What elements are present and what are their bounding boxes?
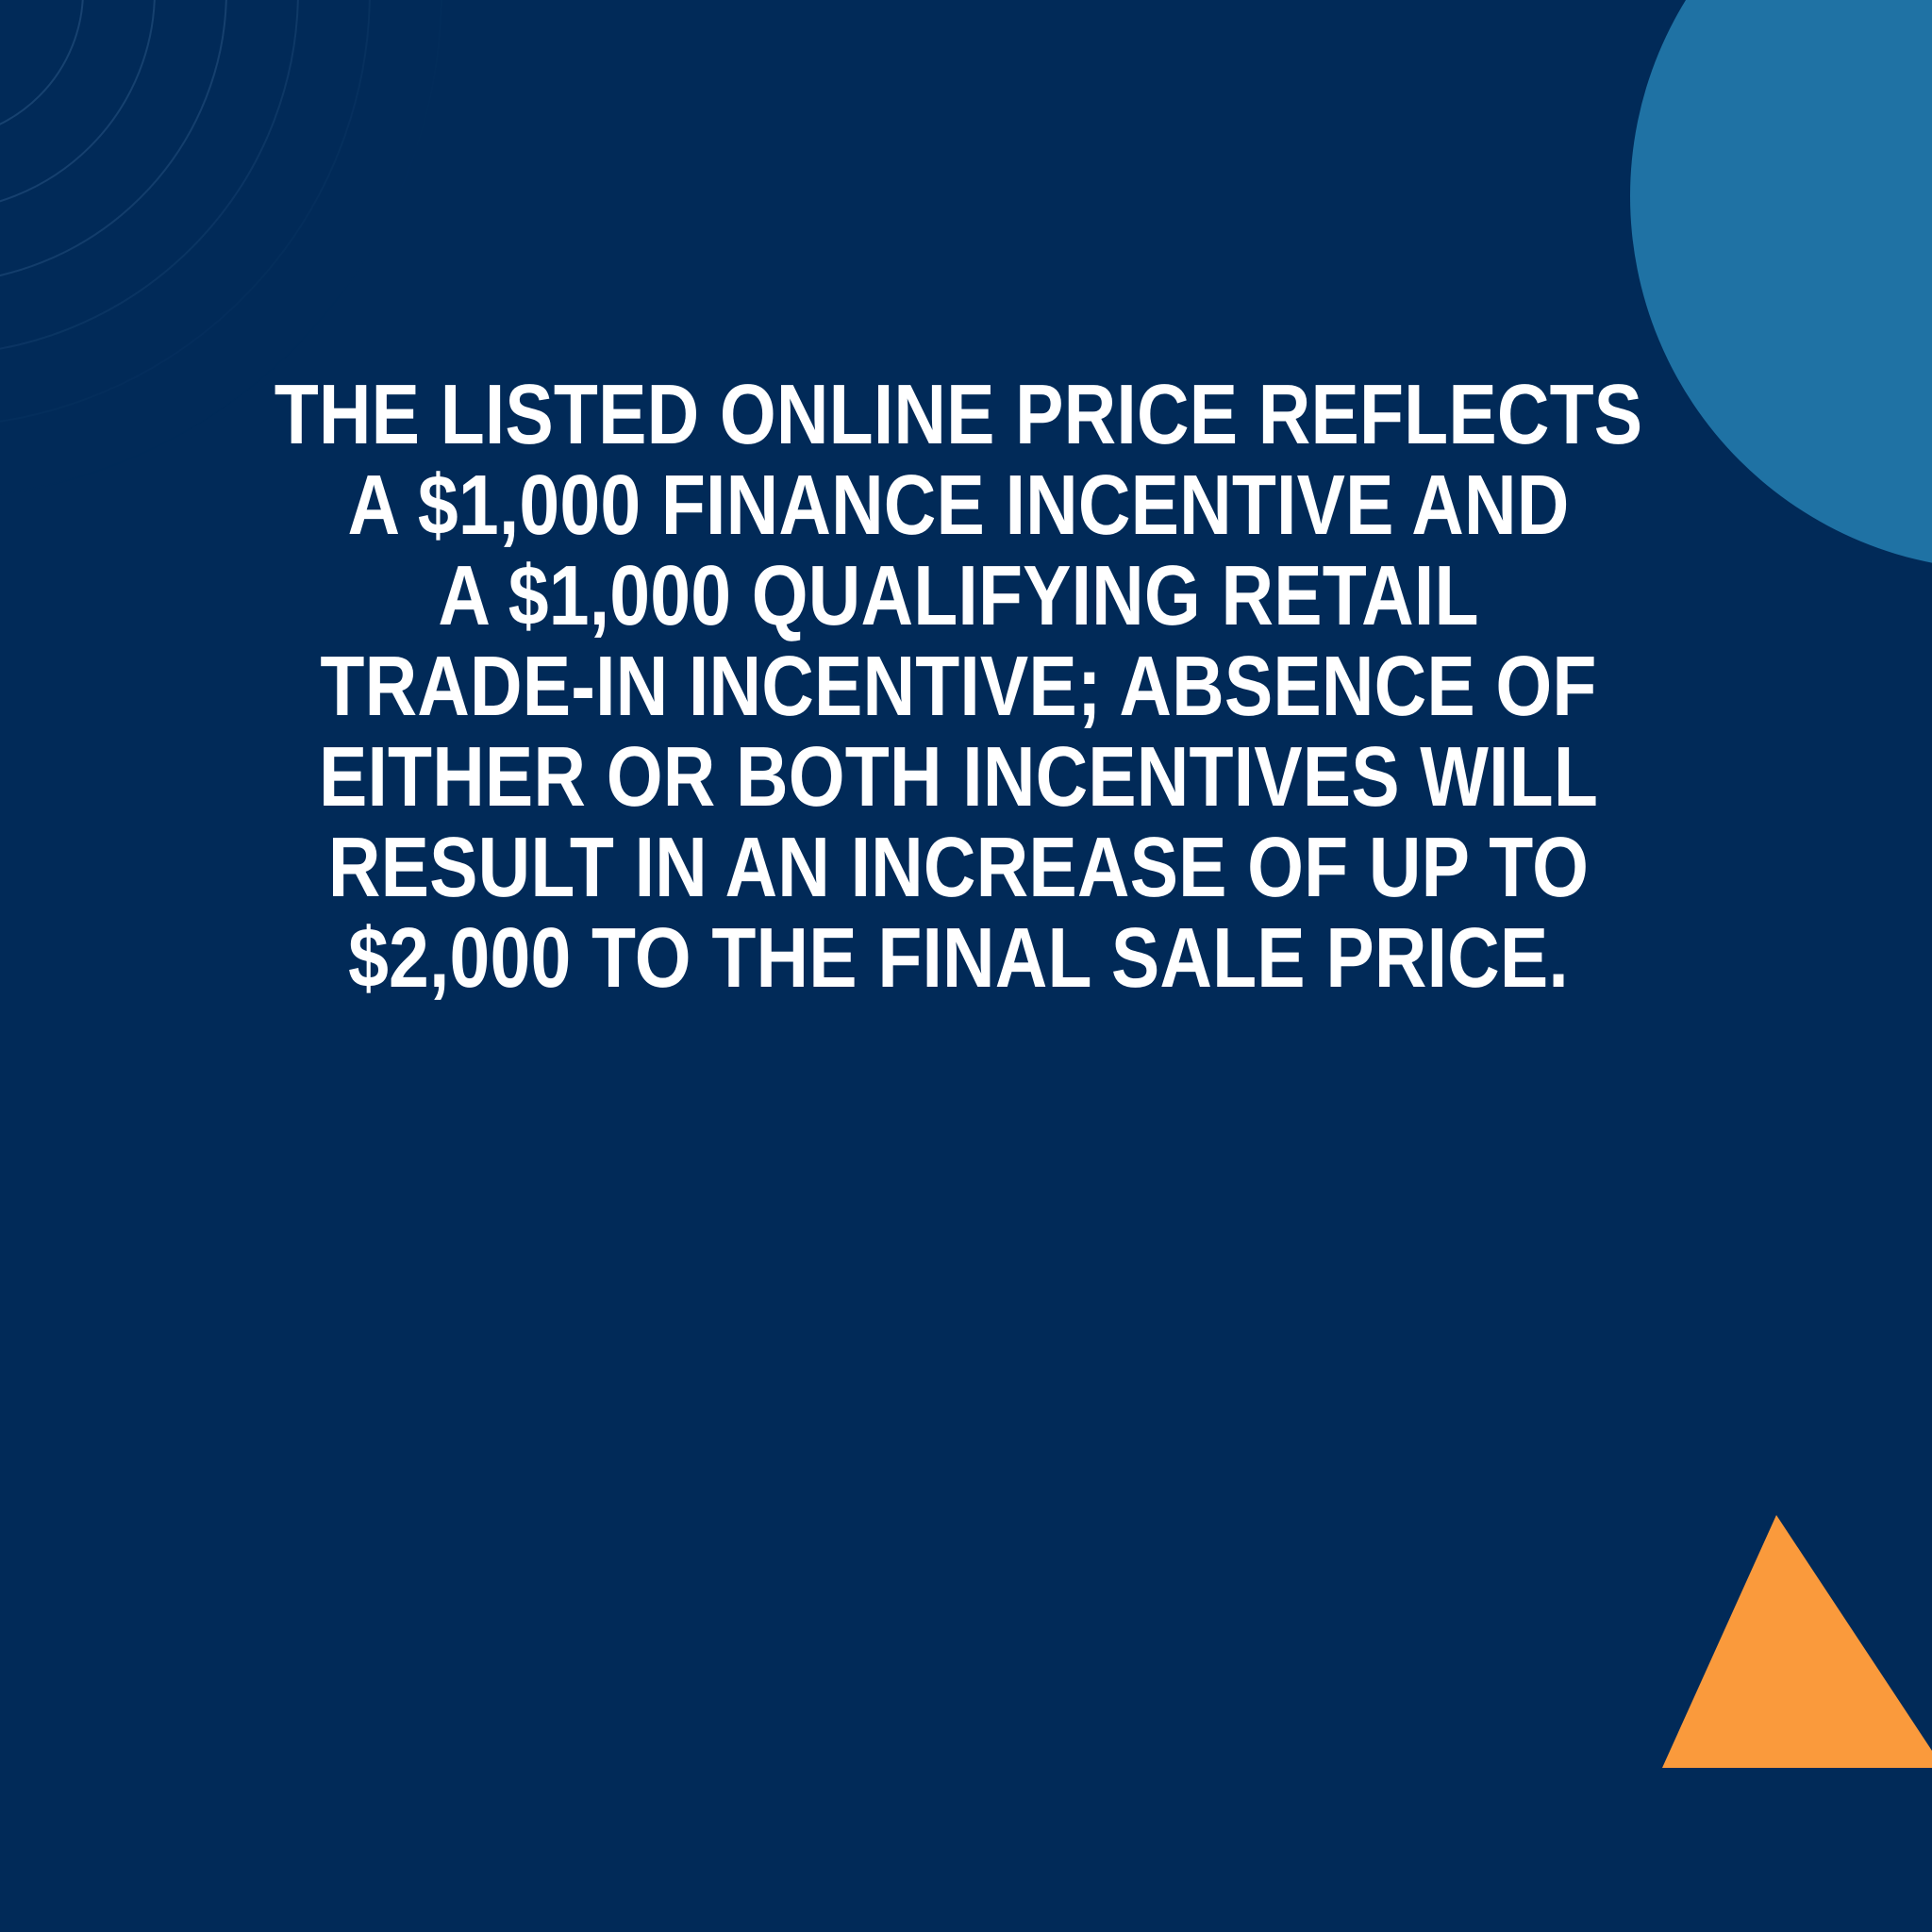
- headline-line-5: EITHER OR BOTH INCENTIVES WILL: [110, 732, 1807, 823]
- headline-line-1: THE LISTED ONLINE PRICE REFLECTS: [110, 370, 1807, 460]
- headline-line-3: A $1,000 QUALIFYING RETAIL: [110, 551, 1807, 641]
- headline-line-4: TRADE-IN INCENTIVE; ABSENCE OF: [110, 641, 1807, 732]
- slide-canvas: THE LISTED ONLINE PRICE REFLECTS A $1,00…: [0, 0, 1932, 1932]
- headline-line-6: RESULT IN AN INCREASE OF UP TO: [110, 823, 1807, 913]
- headline-line-7: $2,000 TO THE FINAL SALE PRICE.: [110, 913, 1807, 1004]
- headline-text-block: THE LISTED ONLINE PRICE REFLECTS A $1,00…: [0, 370, 1932, 1004]
- headline-line-2: A $1,000 FINANCE INCENTIVE AND: [110, 460, 1807, 551]
